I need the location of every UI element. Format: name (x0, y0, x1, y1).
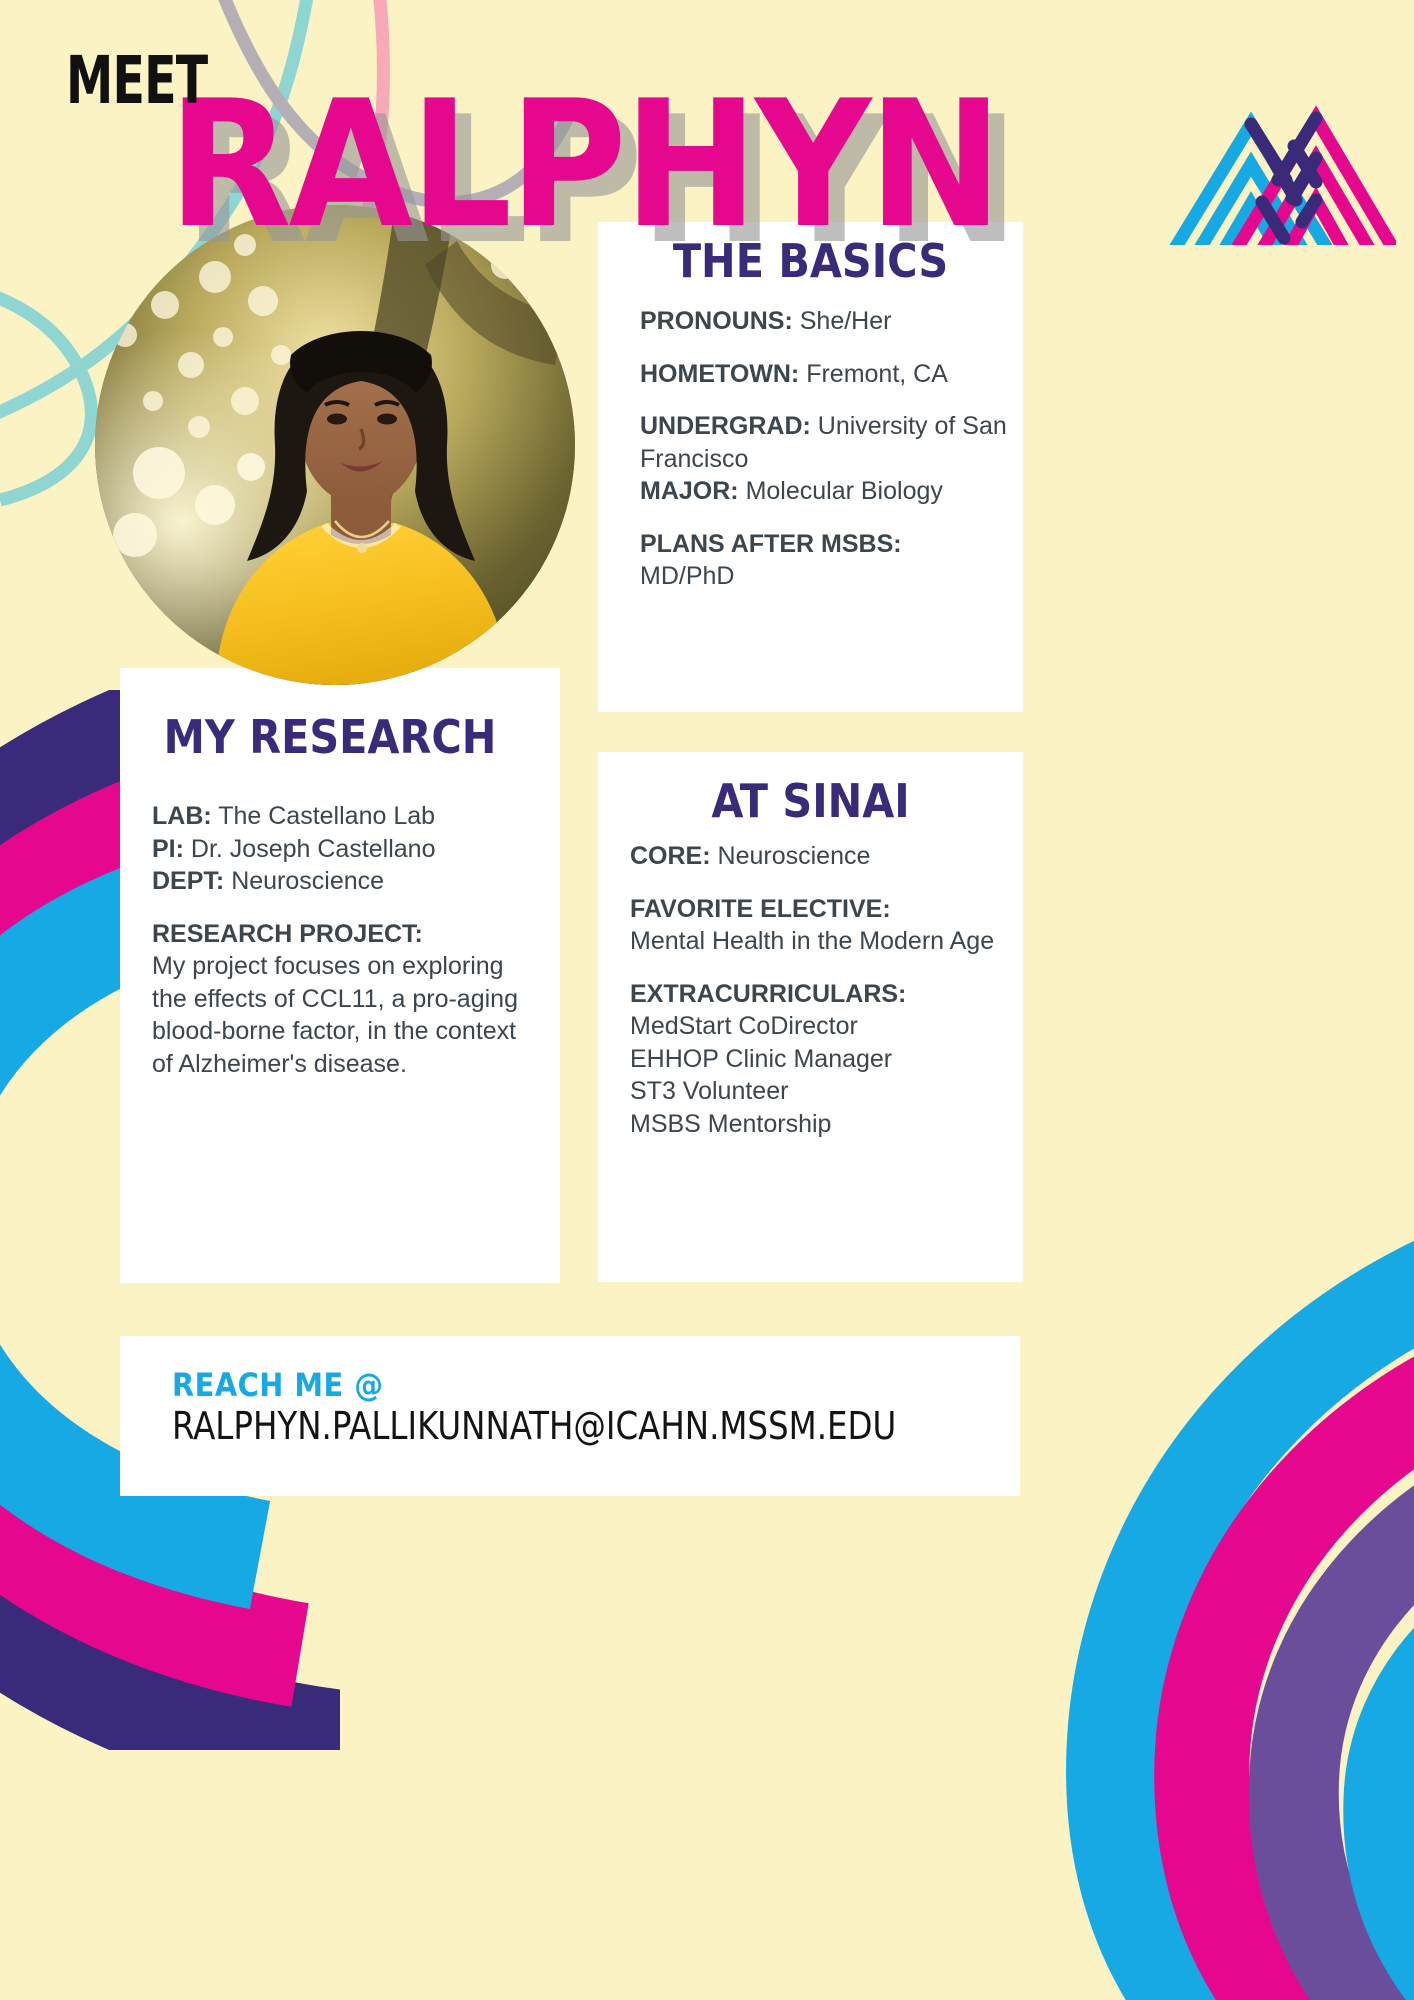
basics-value-hometown: Fremont, CA (806, 360, 948, 388)
basics-value-plans: MD/PhD (640, 560, 1010, 593)
basics-item-major: MAJOR: Molecular Biology (640, 475, 1010, 508)
name-text: RALPHYN (168, 78, 1000, 253)
research-project: RESEARCH PROJECT: My project focuses on … (152, 918, 527, 1081)
research-label-dept: DEPT: (152, 867, 224, 895)
basics-label-major: MAJOR: (640, 477, 739, 505)
research-item-lab: LAB: The Castellano Lab (152, 800, 527, 833)
research-body: LAB: The Castellano Lab PI: Dr. Joseph C… (152, 800, 527, 1080)
basics-label-plans: PLANS AFTER MSBS: (640, 530, 902, 558)
name-headline: RALPHYN (168, 78, 983, 253)
sinai-label-elective: FAVORITE ELECTIVE: (630, 895, 891, 923)
sinai-item-extracurriculars: EXTRACURRICULARS: MedStart CoDirector EH… (630, 978, 1010, 1141)
research-title: MY RESEARCH (120, 714, 540, 760)
basics-value-pronouns: She/Her (800, 307, 892, 335)
contact-email[interactable]: RALPHYN.PALLIKUNNATH@ICAHN.MSSM.EDU (172, 1404, 896, 1448)
research-project-label: RESEARCH PROJECT: (152, 920, 423, 948)
basics-label-undergrad: UNDERGRAD: (640, 412, 811, 440)
mountain-chevron-icon (1166, 50, 1396, 245)
sinai-value-elective: Mental Health in the Modern Age (630, 925, 1010, 958)
research-meta: LAB: The Castellano Lab PI: Dr. Joseph C… (152, 800, 527, 898)
basics-value-major: Molecular Biology (746, 477, 943, 505)
sinai-title: AT SINAI (598, 778, 1023, 824)
basics-item-pronouns: PRONOUNS: She/Her (640, 305, 1010, 338)
sinai-value-core: Neuroscience (718, 842, 871, 870)
poster-canvas: RALPHYN MEET (0, 0, 1414, 2000)
basics-item-hometown: HOMETOWN: Fremont, CA (640, 358, 1010, 391)
list-item: MSBS Mentorship (630, 1108, 1010, 1141)
contact-label: REACH ME @ (172, 1366, 384, 1404)
sinai-label-core: CORE: (630, 842, 711, 870)
portrait-photo-icon (95, 205, 575, 685)
research-label-lab: LAB: (152, 802, 212, 830)
sinai-body: CORE: Neuroscience FAVORITE ELECTIVE: Me… (630, 840, 1010, 1140)
research-item-dept: DEPT: Neuroscience (152, 865, 527, 898)
list-item: ST3 Volunteer (630, 1075, 1010, 1108)
research-project-text: My project focuses on exploring the effe… (152, 950, 527, 1080)
sinai-item-elective: FAVORITE ELECTIVE: Mental Health in the … (630, 893, 1010, 958)
basics-body: PRONOUNS: She/Her HOMETOWN: Fremont, CA … (640, 305, 1010, 593)
research-item-pi: PI: Dr. Joseph Castellano (152, 833, 527, 866)
basics-item-undergrad-major: UNDERGRAD: University of San Francisco M… (640, 410, 1010, 508)
basics-label-hometown: HOMETOWN: (640, 360, 799, 388)
sinai-item-core: CORE: Neuroscience (630, 840, 1010, 873)
basics-item-plans: PLANS AFTER MSBS: MD/PhD (640, 528, 1010, 593)
list-item: MedStart CoDirector (630, 1010, 1010, 1043)
sinai-label-extracurriculars: EXTRACURRICULARS: (630, 980, 906, 1008)
portrait-photo (95, 205, 575, 685)
research-label-pi: PI: (152, 835, 184, 863)
basics-item-undergrad: UNDERGRAD: University of San Francisco (640, 410, 1010, 475)
meet-label: MEET (66, 48, 207, 114)
research-value-pi: Dr. Joseph Castellano (191, 835, 436, 863)
research-value-dept: Neuroscience (231, 867, 384, 895)
basics-label-pronouns: PRONOUNS: (640, 307, 793, 335)
research-value-lab: The Castellano Lab (218, 802, 435, 830)
list-item: EHHOP Clinic Manager (630, 1043, 1010, 1076)
right-arc-decor-icon (974, 1210, 1414, 2000)
